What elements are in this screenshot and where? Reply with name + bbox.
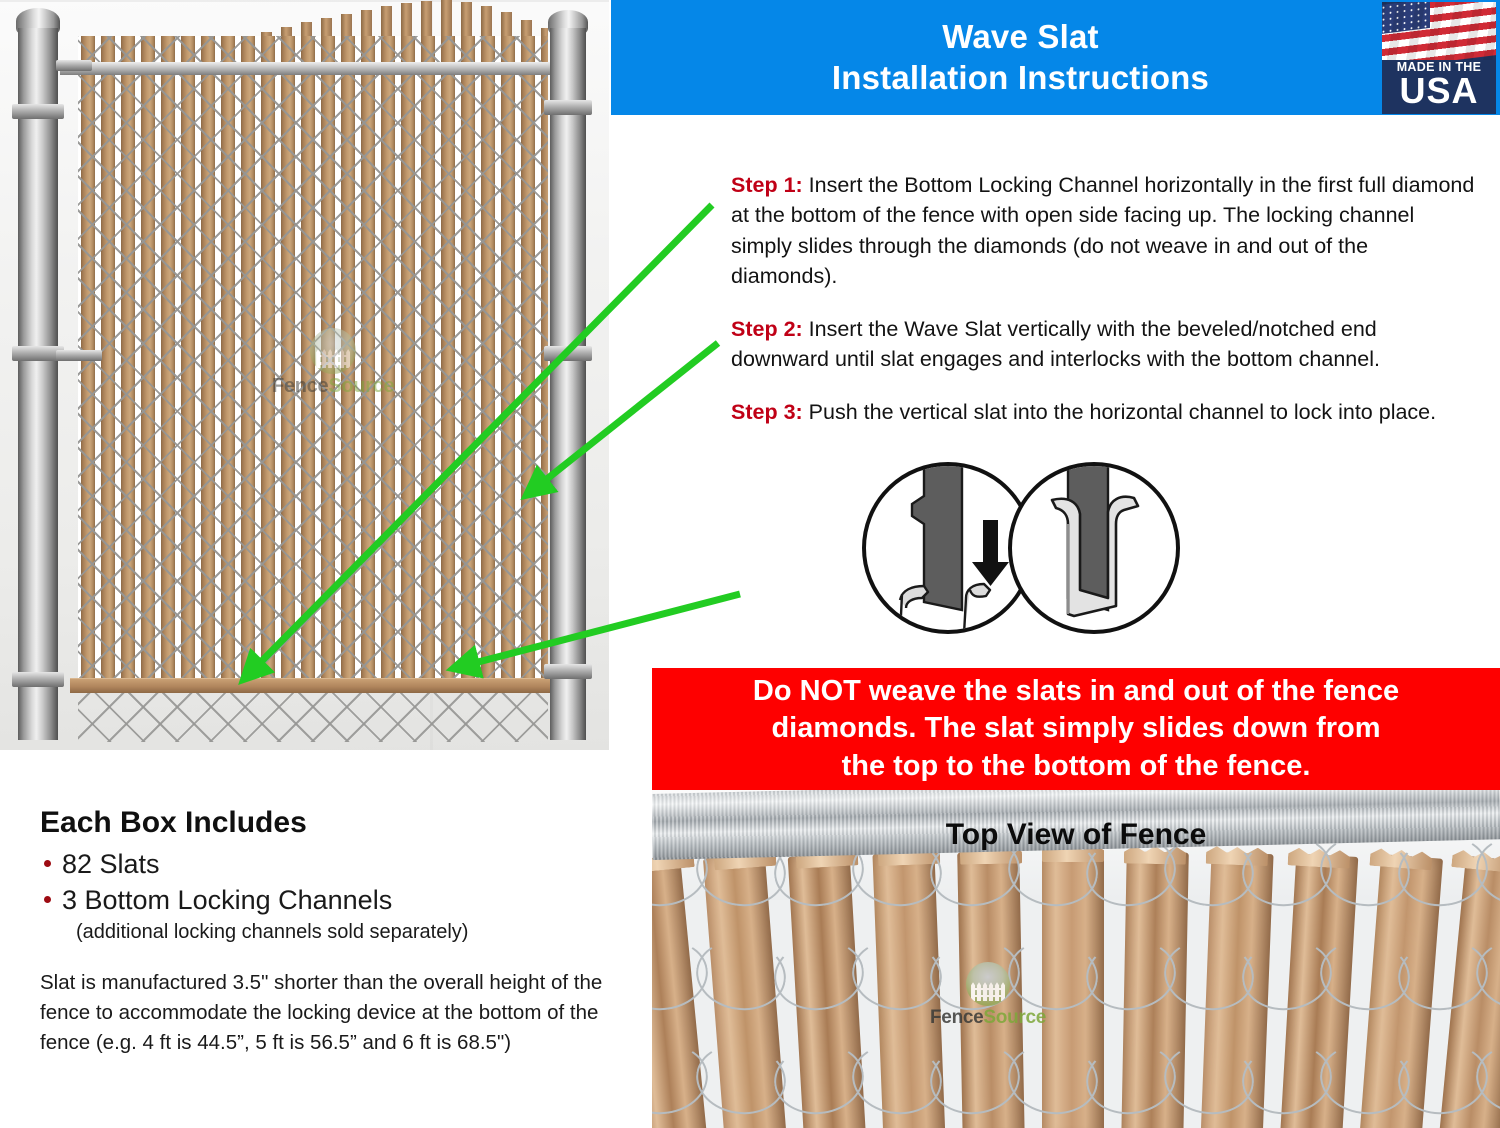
locking-diagrams (862, 462, 1172, 628)
fence-post-left (18, 28, 58, 740)
vertical-slats (78, 36, 548, 684)
badge-line2: USA (1382, 72, 1496, 110)
installation-steps: Step 1: Insert the Bottom Locking Channe… (731, 148, 1476, 449)
made-in-usa-badge: MADE IN THE USA (1382, 2, 1496, 114)
slat-sizing-note: Slat is manufactured 3.5" shorter than t… (40, 968, 615, 1058)
post-band-right (544, 346, 592, 361)
box-contents-note: (additional locking channels sold separa… (40, 921, 620, 944)
warning-banner: Do NOT weave the slats in and out of the… (652, 668, 1500, 790)
page-title-line2: Installation Instructions (832, 58, 1209, 98)
step-2-label: Step 2: (731, 317, 803, 341)
step-3-label: Step 3: (731, 400, 803, 424)
page-title: Wave Slat Installation Instructions (832, 17, 1279, 98)
bullet-icon (44, 860, 51, 867)
box-contents-item-label: 82 Slats (62, 849, 160, 879)
bottom-locking-channel (70, 678, 556, 693)
step-2: Step 2: Insert the Wave Slat vertically … (731, 314, 1476, 375)
page-title-line1: Wave Slat (832, 17, 1209, 57)
box-contents-item: 82 Slats (40, 846, 620, 882)
post-band-left (12, 672, 64, 687)
post-brace-left (56, 60, 92, 71)
box-contents-item: 3 Bottom Locking Channels (40, 882, 620, 918)
top-view-label: Top View of Fence (652, 818, 1500, 852)
bullet-icon (44, 896, 51, 903)
post-band-left (12, 104, 64, 119)
us-flag-icon (1382, 2, 1496, 60)
step-1-text: Insert the Bottom Locking Channel horizo… (731, 173, 1474, 289)
box-contents-item-label: 3 Bottom Locking Channels (62, 885, 392, 915)
step-3: Step 3: Push the vertical slat into the … (731, 397, 1476, 428)
slat-panel (78, 36, 548, 684)
box-contents-section: Each Box Includes 82 Slats 3 Bottom Lock… (40, 806, 620, 944)
step-3-text: Push the vertical slat into the horizont… (803, 400, 1436, 424)
fence-post-right (550, 28, 586, 740)
post-band-right (544, 100, 592, 115)
down-arrow-icon (972, 520, 1009, 586)
step-2-text: Insert the Wave Slat vertically with the… (731, 317, 1380, 372)
channel-prong-right (964, 584, 990, 630)
post-band-right (544, 664, 592, 679)
post-brace-left (56, 350, 102, 361)
top-rail (60, 62, 560, 75)
step-1-label: Step 1: (731, 173, 803, 197)
warning-line1: Do NOT weave the slats in and out of the… (753, 673, 1399, 710)
step-1: Step 1: Insert the Bottom Locking Channe… (731, 170, 1476, 292)
warning-text: Do NOT weave the slats in and out of the… (753, 673, 1399, 784)
top-view-photo: Top View of Fence FenceSource (652, 790, 1500, 1128)
page-header: Wave Slat Installation Instructions MADE… (611, 0, 1500, 115)
fence-installation-photo: FenceSource (0, 0, 609, 750)
warning-line2: diamonds. The slat simply slides down fr… (753, 710, 1399, 747)
channel-prong-left (900, 586, 928, 630)
box-contents-title: Each Box Includes (40, 806, 620, 840)
warning-line3: the top to the bottom of the fence. (753, 748, 1399, 785)
slat-locked-in-channel-diagram (1008, 462, 1180, 634)
